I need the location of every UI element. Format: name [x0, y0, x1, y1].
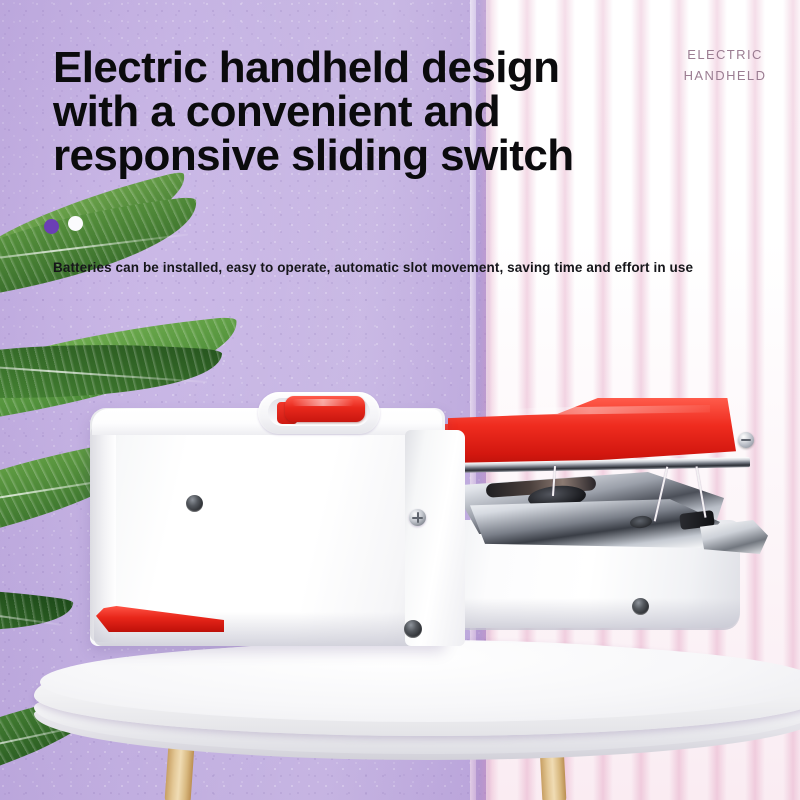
body-screw [409, 509, 426, 526]
handle-end-screw [738, 432, 754, 448]
subheadline: Batteries can be installed, easy to oper… [53, 260, 673, 275]
product-banner: Electric handheld design with a convenie… [0, 0, 800, 800]
body-hole-arm [632, 598, 649, 615]
body-hole-lower-right [404, 620, 422, 638]
headline-line-2: with a convenient and [53, 90, 663, 134]
page-title: Electric handheld design with a convenie… [53, 46, 663, 178]
headline-line-3: responsive sliding switch [53, 134, 663, 178]
headline-line-1: Electric handheld design [53, 46, 663, 90]
lower-arm-shading [440, 598, 740, 630]
watermark-line-1: ELECTRIC [660, 44, 790, 65]
body-hole-upper-left [186, 495, 203, 512]
watermark-line-2: HANDHELD [660, 65, 790, 86]
brand-watermark: ELECTRIC HANDHELD [660, 44, 790, 86]
switch-highlight [292, 399, 354, 406]
machine-neck [405, 430, 465, 646]
